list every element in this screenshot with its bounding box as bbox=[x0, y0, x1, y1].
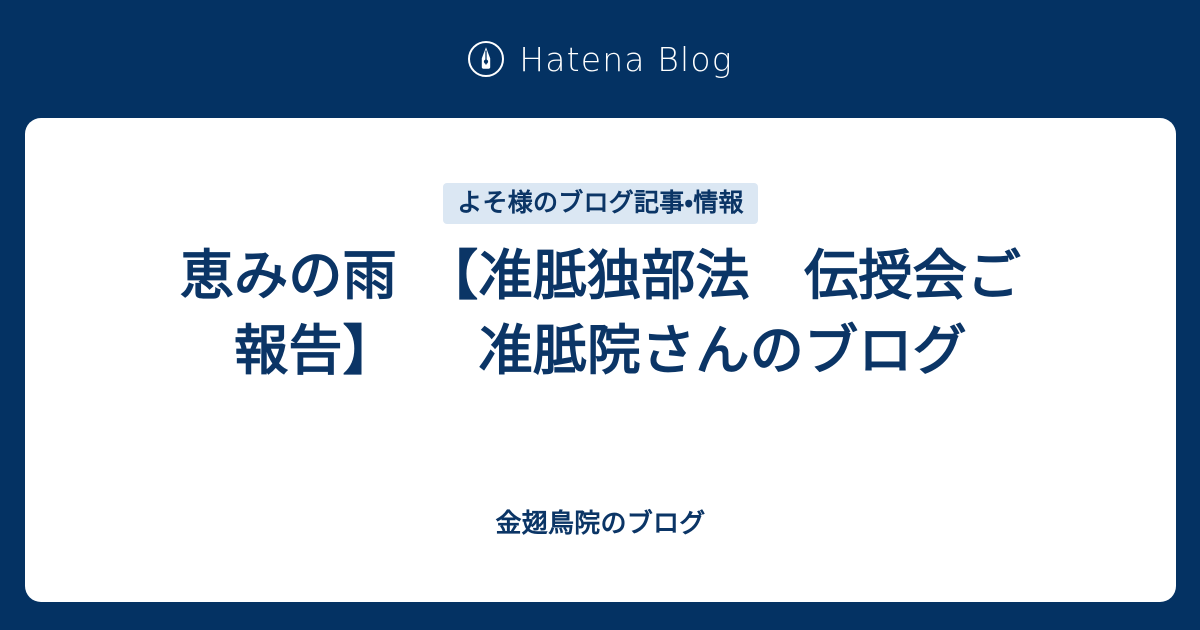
category-badge-row: よそ様のブログ記事・情報 bbox=[25, 183, 1176, 224]
ogp-card-root: Hatena Blog よそ様のブログ記事・情報 恵みの雨 【准胝独部法 伝授会… bbox=[0, 0, 1200, 630]
entry-card: よそ様のブログ記事・情報 恵みの雨 【准胝独部法 伝授会ご報告】 准胝院さんのブ… bbox=[25, 118, 1176, 602]
blog-name-label: 金翅鳥院のブログ bbox=[25, 509, 1176, 540]
hatena-blog-brand-bar: Hatena Blog bbox=[0, 0, 1200, 118]
category-badge: よそ様のブログ記事・情報 bbox=[443, 183, 758, 224]
hatena-pen-nib-icon bbox=[467, 40, 505, 78]
brand-name-label: Hatena Blog bbox=[519, 43, 732, 76]
entry-title: 恵みの雨 【准胝独部法 伝授会ご報告】 准胝院さんのブログ bbox=[161, 238, 1041, 388]
